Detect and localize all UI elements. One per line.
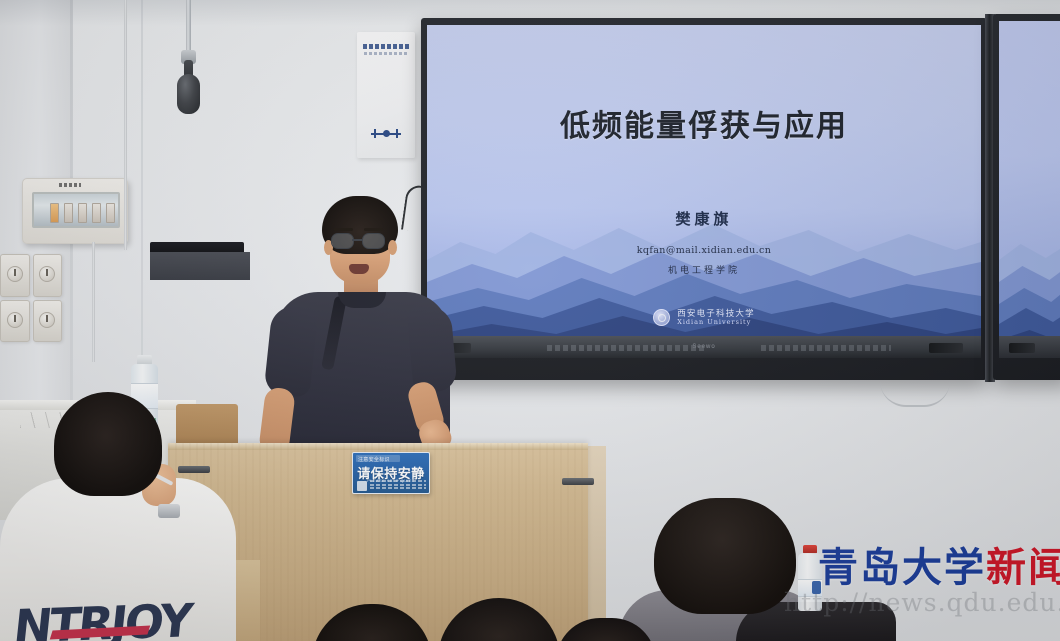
microphone-icon bbox=[177, 74, 200, 114]
wall-cable-lower bbox=[92, 242, 95, 362]
display-bezel-bottom: Seewo bbox=[427, 336, 981, 358]
speaker-sleeve-left bbox=[263, 304, 318, 398]
slide-department: 机电工程学院 bbox=[427, 263, 981, 276]
slide-email: kqfan@mail.xidian.edu.cn bbox=[427, 245, 981, 256]
university-name-en: Xidian University bbox=[677, 319, 755, 326]
sign-badge-icon bbox=[357, 481, 367, 491]
podium-hinge-right bbox=[562, 478, 594, 485]
display-ports-right[interactable] bbox=[929, 343, 963, 353]
watermark-brand-blue: 青岛大学 bbox=[818, 544, 986, 591]
wall-notice-panel bbox=[357, 32, 415, 158]
switch-cell[interactable] bbox=[33, 300, 63, 343]
audience-left-hair bbox=[54, 392, 162, 496]
glasses-icon bbox=[331, 233, 354, 249]
presentation-slide[interactable]: 低频能量俘获与应用 樊康旗 kqfan@mail.xidian.edu.cn 机… bbox=[427, 25, 981, 358]
speaker-ear-right bbox=[388, 240, 397, 255]
switch-knob-icon[interactable] bbox=[39, 266, 55, 282]
keep-quiet-sign: 注意安全标识 请保持安静 PLEASE KEEP QUIET bbox=[352, 452, 430, 494]
wall-panel-subtitle-text bbox=[364, 52, 408, 55]
secondary-display-ports[interactable] bbox=[1009, 343, 1035, 353]
electrical-box-label bbox=[59, 183, 81, 187]
electrical-distribution-box bbox=[22, 178, 128, 244]
speaker-presenter bbox=[252, 196, 472, 456]
switch-knob-icon[interactable] bbox=[7, 312, 23, 328]
wall-panel-logo-icon bbox=[371, 126, 401, 142]
audience-right-hair bbox=[654, 498, 796, 614]
watermark-brand: 青岛大学新闻网 bbox=[818, 548, 1060, 588]
audience-member-left: NTRJOY Running bbox=[0, 392, 232, 641]
speaker-brow-left bbox=[334, 228, 353, 231]
sign-header-text: 注意安全标识 bbox=[358, 456, 390, 463]
secondary-display[interactable] bbox=[993, 14, 1060, 380]
wristwatch-icon bbox=[158, 504, 180, 518]
electrical-box-window bbox=[32, 192, 120, 228]
microphone-pole bbox=[186, 0, 191, 54]
speaker-brow-right bbox=[364, 228, 383, 231]
slide-title: 低频能量俘获与应用 bbox=[427, 101, 981, 145]
wall-switch-panel[interactable] bbox=[0, 254, 62, 342]
slide-author: 樊康旗 bbox=[427, 208, 981, 229]
switch-cell[interactable] bbox=[33, 254, 63, 297]
university-seal-icon bbox=[653, 309, 670, 326]
audience-left-shirt: NTRJOY Running bbox=[0, 478, 236, 641]
lecture-photo-scene: 低频能量俘获与应用 樊康旗 kqfan@mail.xidian.edu.cn 机… bbox=[0, 0, 1060, 641]
watermark-url: http://news.qdu.edu.cn bbox=[784, 588, 1060, 617]
wall-panel-title-text bbox=[363, 44, 409, 49]
speaker-mouth bbox=[349, 264, 369, 274]
display-bezel-text-right bbox=[761, 345, 891, 351]
news-watermark: http://news.qdu.edu.cn 青岛大学新闻网 bbox=[818, 548, 1058, 618]
university-logo: 西安电子科技大学 Xidian University bbox=[427, 309, 981, 326]
sign-footer-note bbox=[370, 480, 426, 491]
switch-knob-icon[interactable] bbox=[39, 312, 55, 328]
watermark-brand-red: 新闻网 bbox=[986, 544, 1060, 591]
speaker-trousers bbox=[150, 252, 250, 280]
switch-cell[interactable] bbox=[0, 254, 30, 297]
glasses-icon-right bbox=[362, 233, 385, 249]
secondary-display-bezel bbox=[999, 336, 1060, 358]
switch-cell[interactable] bbox=[0, 300, 30, 343]
main-display[interactable]: 低频能量俘获与应用 樊康旗 kqfan@mail.xidian.edu.cn 机… bbox=[421, 18, 987, 380]
glasses-bridge bbox=[352, 239, 362, 241]
display-bezel-text-left bbox=[547, 345, 707, 351]
speaker-sleeve-right bbox=[406, 304, 457, 394]
secondary-slide-mountain-graphic bbox=[999, 198, 1060, 358]
sign-footer bbox=[357, 480, 426, 491]
switch-knob-icon[interactable] bbox=[7, 266, 23, 282]
wall-cable bbox=[124, 0, 127, 250]
secondary-display-screen[interactable] bbox=[999, 21, 1060, 358]
